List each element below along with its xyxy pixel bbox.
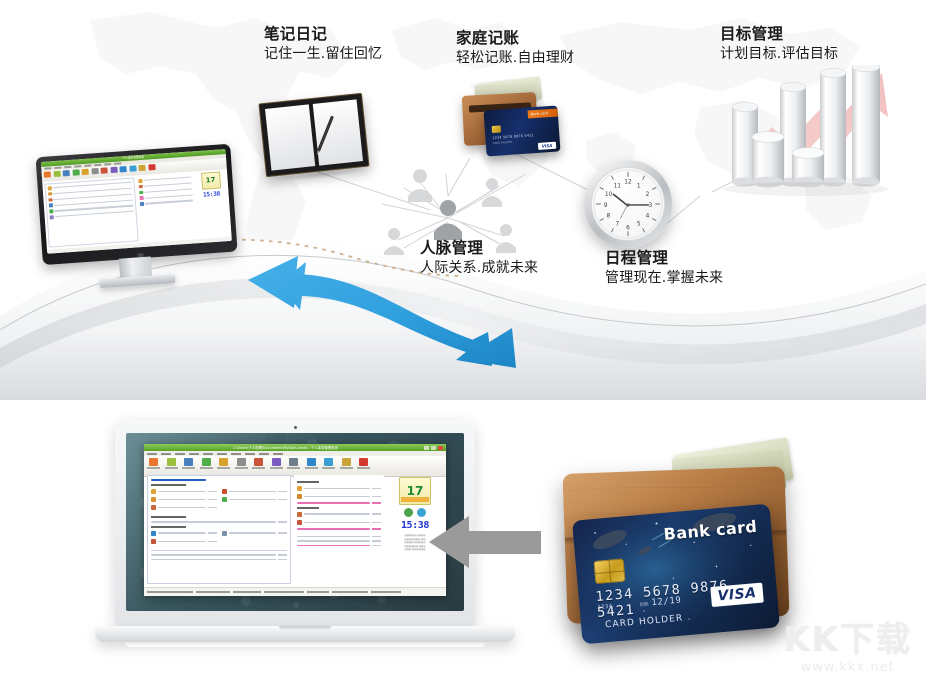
minimize-icon[interactable]: [424, 446, 429, 450]
section-label-income: [151, 484, 186, 486]
feature-title: 笔记日记: [264, 24, 382, 44]
app-statusbar: [144, 587, 446, 596]
svg-text:3: 3: [649, 203, 653, 209]
list-item[interactable]: [151, 531, 217, 536]
close-icon[interactable]: [438, 446, 443, 450]
maximize-icon[interactable]: [431, 446, 436, 450]
top-feature-section: 个人事务管理系统: [0, 0, 926, 400]
feature-title: 日程管理: [605, 248, 723, 268]
laptop-lid: C:\Users\个人助理\Documents\MyData.pmdb - 个人…: [115, 420, 475, 632]
toolbar-button[interactable]: [182, 458, 195, 469]
card-chip-icon: [492, 125, 501, 133]
card-holder: CARD HOLDER: [493, 141, 512, 145]
window-controls[interactable]: [424, 446, 443, 450]
section-label-accounts: [297, 481, 319, 483]
desktop-monitor: 个人事务管理系统: [36, 143, 250, 292]
feature-subtitle: 计划目标.评估目标: [720, 44, 838, 64]
menu-item-file[interactable]: [147, 453, 157, 455]
svg-text:2: 2: [646, 192, 650, 198]
feature-label-family-accounting: 家庭记账 轻松记账.自由理财: [456, 28, 574, 68]
wallet-bank-card: Bank card 1234 5678 9876 5421 CARD HOLDE…: [483, 105, 560, 156]
monitor-mid-pane: [136, 173, 197, 241]
menu-item-records[interactable]: [175, 453, 185, 455]
bank-card: Bank card 1234 5678 9876 5421 1234 到期 12…: [572, 504, 780, 645]
list-item[interactable]: [297, 494, 381, 499]
monitor-left-pane: [44, 177, 139, 247]
monitor-app-window: 个人事务管理系统: [41, 149, 232, 254]
webcam-icon: [294, 426, 297, 429]
feature-subtitle: 记住一生.留住回忆: [264, 44, 382, 64]
app-mid-pane: [294, 475, 384, 584]
monitor-clock-time: 15:38: [203, 191, 221, 200]
list-item[interactable]: [151, 489, 217, 494]
menu-item[interactable]: [114, 163, 121, 165]
summary-row: [297, 540, 381, 542]
toolbar-icon[interactable]: [44, 171, 51, 177]
bottom-demo-section: C:\Users\个人助理\Documents\MyData.pmdb - 个人…: [0, 400, 926, 687]
card-expiry-label: 到期: [639, 602, 648, 609]
toolbar-icon[interactable]: [100, 167, 107, 173]
toolbar-icon[interactable]: [91, 168, 98, 174]
toolbar-button[interactable]: [270, 458, 283, 469]
site-watermark: KK下载 www.kkx.net: [783, 623, 912, 675]
watermark-logo: KK下载: [783, 623, 912, 657]
svg-text:8: 8: [607, 214, 611, 220]
toolbar-button[interactable]: [235, 458, 248, 469]
card-sub-number: 1234: [597, 604, 612, 611]
menu-item-help[interactable]: [273, 453, 283, 455]
visa-label: VISA: [717, 585, 757, 604]
promo-graphic: 个人事务管理系统: [0, 0, 926, 687]
feature-title: 家庭记账: [456, 28, 574, 48]
svg-text:4: 4: [646, 214, 650, 220]
toolbar-icon[interactable]: [81, 169, 88, 175]
menu-item-window[interactable]: [259, 453, 269, 455]
toolbar-icon[interactable]: [119, 166, 126, 172]
laptop-front-edge: [125, 642, 485, 647]
menu-item[interactable]: [94, 164, 101, 166]
menu-item[interactable]: [64, 166, 71, 168]
toolbar-button[interactable]: [322, 458, 335, 469]
toolbar-button[interactable]: [305, 458, 318, 469]
summary-row: [297, 536, 381, 538]
svg-text:12: 12: [624, 180, 632, 186]
toolbar-button[interactable]: [217, 458, 230, 469]
card-chip-icon: [594, 559, 626, 585]
monitor-app-body: 17 15:38: [42, 169, 231, 250]
menu-item[interactable]: [44, 167, 51, 169]
feature-subtitle: 轻松记账.自由理财: [456, 48, 574, 68]
svg-text:6: 6: [626, 225, 630, 231]
menu-item-tools[interactable]: [245, 453, 255, 455]
feature-title: 人脉管理: [420, 238, 538, 258]
menu-item-notes[interactable]: [231, 453, 241, 455]
card-brand-label: Bank card: [528, 108, 558, 118]
list-item[interactable]: [222, 531, 288, 536]
toolbar-button[interactable]: [252, 458, 265, 469]
wall-clock-icon: 1212 345 678 91011: [584, 160, 672, 248]
menu-item-ledger[interactable]: [161, 453, 171, 455]
toolbar-icon[interactable]: [129, 165, 136, 171]
feature-label-schedule-management: 日程管理 管理现在.掌握未来: [605, 248, 723, 288]
monitor-screen: 个人事务管理系统: [41, 149, 232, 254]
list-item[interactable]: [151, 497, 217, 502]
section-label-expense: [151, 526, 186, 528]
list-item[interactable]: [297, 502, 381, 504]
calendar-day: 17: [407, 485, 424, 497]
watermark-url: www.kkx.net: [783, 660, 912, 675]
feature-label-contacts-management: 人脉管理 人际关系.成就未来: [420, 238, 538, 278]
menu-item-contacts[interactable]: [217, 453, 227, 455]
menu-item-schedule[interactable]: [203, 453, 213, 455]
feature-label-goal-management: 目标管理 计划目标.评估目标: [720, 24, 838, 64]
feature-subtitle: 管理现在.掌握未来: [605, 268, 723, 288]
wallet-with-card: Bank card 1234 5678 9876 5421 1234 到期 12…: [555, 440, 805, 650]
monitor-bezel: 个人事务管理系统: [36, 144, 238, 265]
toolbar-icon[interactable]: [63, 170, 70, 176]
app-titlebar: C:\Users\个人助理\Documents\MyData.pmdb - 个人…: [144, 444, 446, 451]
svg-text:10: 10: [605, 192, 613, 198]
section-label-todo: [297, 507, 319, 509]
toolbar-button[interactable]: [287, 458, 300, 469]
toolbar-icon[interactable]: [138, 165, 145, 171]
notebook-page-right: [313, 99, 363, 165]
pane-heading: [151, 479, 206, 481]
notebook-page-left: [265, 104, 315, 170]
section-label-subtotal: [151, 516, 186, 518]
total-row: [151, 554, 287, 556]
toolbar-icon[interactable]: [148, 164, 155, 170]
list-item[interactable]: [297, 512, 381, 517]
app-window-title: C:\Users\个人助理\Documents\MyData.pmdb - 个人…: [147, 445, 424, 450]
menu-item[interactable]: [74, 165, 81, 167]
svg-text:9: 9: [604, 203, 608, 209]
wallet-card-icon: Bank card 1234 5678 9876 5421 CARD HOLDE…: [455, 80, 567, 156]
menu-item-accounts[interactable]: [189, 453, 199, 455]
toolbar-button[interactable]: [340, 458, 353, 469]
feature-label-note-diary: 笔记日记 记住一生.留住回忆: [264, 24, 382, 64]
calendar-widget[interactable]: 17: [399, 477, 431, 505]
list-item[interactable]: [151, 505, 217, 510]
bar-cylinder-chart-icon: [710, 65, 910, 245]
toolbar-button[interactable]: [357, 458, 370, 469]
list-item[interactable]: [222, 497, 288, 502]
svg-text:1: 1: [637, 183, 641, 189]
clock-face: 1212 345 678 91011: [591, 167, 665, 241]
list-item[interactable]: [151, 539, 217, 544]
toolbar-icon[interactable]: [110, 167, 117, 173]
svg-text:11: 11: [614, 183, 622, 189]
list-item[interactable]: [297, 520, 381, 525]
visa-logo: VISA: [538, 142, 556, 150]
app-left-pane: [147, 475, 291, 584]
svg-text:5: 5: [637, 221, 641, 227]
summary-row: [297, 545, 381, 547]
weather-badges: [404, 508, 426, 517]
app-content: 17 15:38 ▤▤▤▤▤ ▤▤▤▤▤▤▤▤▤▤▤ ▤▤▤▤▤▤ ▤▤▤▤▤▤…: [144, 472, 446, 587]
calendar-ribbon: [401, 497, 429, 502]
finance-app-window: C:\Users\个人助理\Documents\MyData.pmdb - 个人…: [144, 444, 446, 596]
data-import-arrow: [425, 512, 545, 578]
notebook-pen-icon: [258, 93, 369, 177]
toolbar-button[interactable]: [165, 458, 178, 469]
feature-title: 目标管理: [720, 24, 838, 44]
menu-item[interactable]: [84, 165, 91, 167]
list-item[interactable]: [297, 486, 381, 491]
feature-subtitle: 人际关系.成就未来: [420, 258, 538, 278]
plant-icon: [404, 508, 413, 517]
toolbar-icon[interactable]: [53, 171, 60, 177]
toolbar-button[interactable]: [147, 458, 160, 469]
monitor-widget-pane: 17 15:38: [195, 171, 229, 237]
toolbar-button[interactable]: [200, 458, 213, 469]
card-brand-band: Bank card: [528, 108, 558, 118]
list-item[interactable]: [222, 489, 288, 494]
list-item[interactable]: [151, 521, 287, 523]
monitor-calendar-day: 17: [201, 172, 221, 190]
laptop-screen: C:\Users\个人助理\Documents\MyData.pmdb - 个人…: [126, 433, 464, 611]
menu-item[interactable]: [104, 163, 111, 165]
laptop-notch: [279, 626, 331, 630]
svg-text:7: 7: [615, 221, 619, 227]
card-number: 1234 5678 9876 5421: [492, 133, 534, 140]
toolbar-icon[interactable]: [72, 169, 79, 175]
total-row: [151, 559, 287, 561]
list-item[interactable]: [297, 528, 381, 530]
menu-item[interactable]: [54, 167, 61, 169]
